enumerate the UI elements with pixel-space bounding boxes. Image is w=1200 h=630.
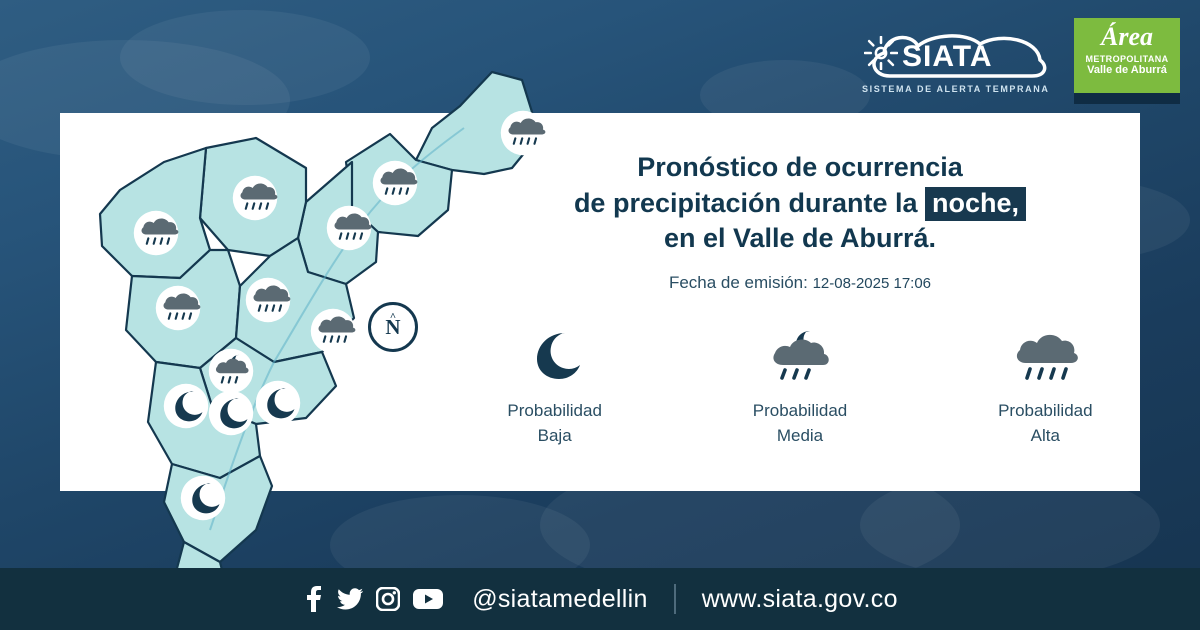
cloud-rain-icon [326, 205, 372, 251]
cloud-rain-icon [310, 308, 356, 354]
emission-date-value: 12-08-2025 17:06 [813, 275, 931, 292]
legend-label-baja: Probabilidad Baja [480, 399, 629, 448]
probability-legend: Probabilidad Baja Probabilidad Media [480, 325, 1120, 448]
compass-rose: ^ N [368, 302, 418, 352]
area-line-2: Valle de Aburrá [1074, 64, 1180, 76]
map-marker-baja [163, 383, 209, 429]
legend-alta-line2: Alta [971, 424, 1120, 449]
legend-item-alta: Probabilidad Alta [971, 325, 1120, 448]
title-line-2-text: de precipitación durante la [574, 188, 918, 218]
emission-date: Fecha de emisión: 12-08-2025 17:06 [480, 273, 1120, 293]
siata-wordmark: SIATA [902, 40, 993, 74]
sun-icon [864, 36, 898, 70]
cloud-rain-icon [232, 175, 278, 221]
cloud-moon-rain-icon [208, 348, 254, 394]
map-marker-media [208, 348, 254, 394]
map-marker-alta [310, 308, 356, 354]
legend-item-baja: Probabilidad Baja [480, 325, 629, 448]
map-polygons [60, 50, 540, 590]
website-url[interactable]: www.siata.gov.co [702, 585, 898, 614]
map-marker-alta [372, 160, 418, 206]
cloud-rain-icon [155, 285, 201, 331]
footer-bar: @siatamedellin www.siata.gov.co [0, 568, 1200, 630]
map-marker-alta [133, 210, 179, 256]
logo-group: SIATA SISTEMA DE ALERTA TEMPRANA Área ME… [862, 18, 1180, 104]
title-line-1: Pronóstico de ocurrencia [480, 150, 1120, 186]
moon-icon [525, 325, 585, 385]
title-line-3: en el Valle de Aburrá. [480, 221, 1120, 257]
map-marker-baja [180, 475, 226, 521]
area-line-1: METROPOLITANA [1074, 54, 1180, 64]
legend-label-media: Probabilidad Media [725, 399, 874, 448]
forecast-text-block: Pronóstico de ocurrencia de precipitació… [480, 150, 1120, 293]
page-title: Pronóstico de ocurrencia de precipitació… [480, 150, 1120, 257]
legend-baja-line1: Probabilidad [480, 399, 629, 424]
legend-media-line2: Media [725, 424, 874, 449]
legend-baja-line2: Baja [480, 424, 629, 449]
map-marker-alta [245, 277, 291, 323]
moon-icon [163, 383, 209, 429]
cloud-rain-icon [133, 210, 179, 256]
social-handle[interactable]: @siatamedellin [472, 585, 648, 614]
area-metropolitana-logo: Área METROPOLITANA Valle de Aburrá [1074, 18, 1180, 104]
facebook-icon[interactable] [302, 586, 324, 612]
legend-label-alta: Probabilidad Alta [971, 399, 1120, 448]
map-marker-alta [326, 205, 372, 251]
instagram-icon[interactable] [376, 587, 400, 611]
cloud-moon-rain-icon [765, 325, 835, 385]
cloud-rain-icon [372, 160, 418, 206]
compass-caret: ^ [390, 311, 396, 323]
siata-logo: SIATA SISTEMA DE ALERTA TEMPRANA [862, 18, 1062, 104]
map-marker-baja [208, 390, 254, 436]
infographic-root: SIATA SISTEMA DE ALERTA TEMPRANA Área ME… [0, 0, 1200, 630]
moon-icon [208, 390, 254, 436]
map-marker-alta [232, 175, 278, 221]
area-logo-bar [1074, 93, 1180, 104]
map-marker-alta [155, 285, 201, 331]
legend-media-line1: Probabilidad [725, 399, 874, 424]
valle-de-aburra-map: ^ N [60, 50, 540, 590]
moon-icon [255, 380, 301, 426]
title-line-2: de precipitación durante la noche, [480, 186, 1120, 222]
cloud-rain-icon [1010, 325, 1080, 385]
area-wordmark: Área [1074, 24, 1180, 50]
twitter-icon[interactable] [337, 586, 363, 612]
youtube-icon[interactable] [413, 587, 443, 611]
title-highlight-noche: noche, [925, 187, 1026, 221]
social-icons: @siatamedellin [302, 585, 648, 614]
moon-icon [180, 475, 226, 521]
map-marker-baja [255, 380, 301, 426]
cloud-rain-icon [245, 277, 291, 323]
siata-tagline: SISTEMA DE ALERTA TEMPRANA [862, 84, 1049, 94]
emission-date-label: Fecha de emisión: [669, 273, 808, 292]
legend-alta-line1: Probabilidad [971, 399, 1120, 424]
legend-item-media: Probabilidad Media [725, 325, 874, 448]
footer-divider [674, 584, 676, 614]
